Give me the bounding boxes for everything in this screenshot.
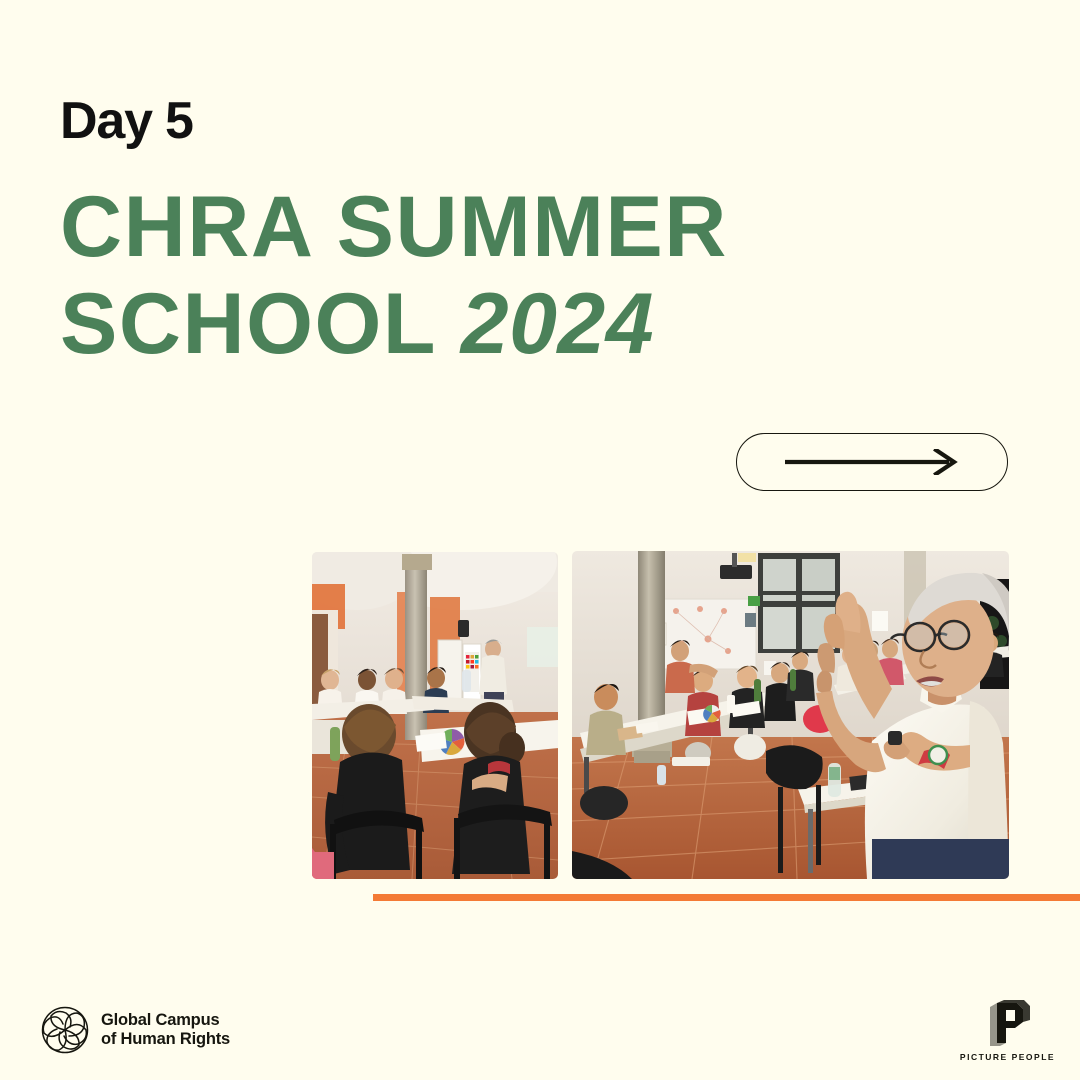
title-word-school: SCHOOL bbox=[60, 276, 435, 372]
classroom-seminar-photo bbox=[312, 552, 558, 879]
global-campus-line-2: of Human Rights bbox=[101, 1030, 230, 1049]
picture-people-wordmark: PICTURE PEOPLE bbox=[960, 1052, 1055, 1062]
picture-people-logo: PICTURE PEOPLE bbox=[955, 1000, 1060, 1062]
poster-canvas: Day 5 CHRA SUMMER SCHOOL 2024 bbox=[0, 0, 1080, 1080]
picture-people-p-icon bbox=[986, 1000, 1030, 1046]
global-campus-line-1: Global Campus bbox=[101, 1011, 230, 1030]
global-campus-wordmark: Global Campus of Human Rights bbox=[101, 1011, 230, 1050]
spiral-logo-icon bbox=[40, 1005, 90, 1055]
title-line-two: SCHOOL 2024 bbox=[60, 283, 1020, 366]
next-arrow-button[interactable] bbox=[736, 433, 1008, 491]
title-year: 2024 bbox=[461, 276, 654, 372]
arrow-right-icon bbox=[783, 449, 961, 475]
title-line-one: CHRA SUMMER bbox=[60, 186, 1020, 269]
page-title: CHRA SUMMER SCHOOL 2024 bbox=[60, 186, 1020, 365]
global-campus-logo: Global Campus of Human Rights bbox=[40, 1005, 230, 1055]
day-label: Day 5 bbox=[60, 95, 193, 147]
orange-rule bbox=[373, 894, 1080, 901]
lecturer-gesturing-photo bbox=[572, 551, 1009, 879]
